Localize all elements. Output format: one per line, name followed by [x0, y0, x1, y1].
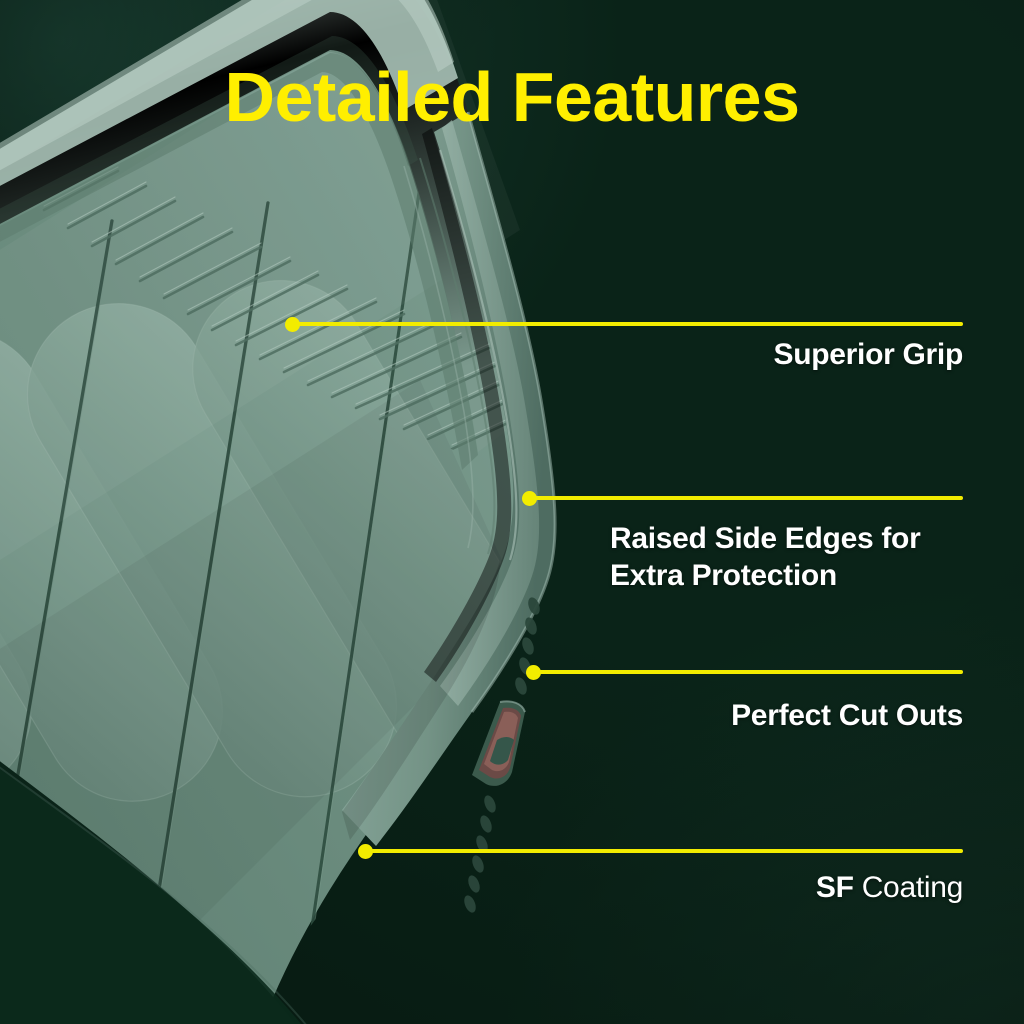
callout-dot-sf-coating: [358, 844, 373, 859]
callout-line-superior-grip: [292, 322, 963, 326]
infographic-canvas: Detailed Features Superior Grip Raised S…: [0, 0, 1024, 1024]
callout-label-perfect-cut-outs: Perfect Cut Outs: [463, 698, 963, 735]
callout-line-perfect-cut-outs: [533, 670, 963, 674]
callout-label-sf-coating: SF Coating: [463, 870, 963, 907]
callout-dot-raised-side-edges: [522, 491, 537, 506]
callout-dot-perfect-cut-outs: [526, 665, 541, 680]
callout-label-raised-side-edges: Raised Side Edges for Extra Protection: [610, 521, 920, 594]
callout-label-line-2: Extra Protection: [610, 558, 920, 595]
callout-label-sf-coating-regular: Coating: [854, 871, 963, 904]
callout-label-line-1: Raised Side Edges for: [610, 521, 920, 558]
callout-dot-superior-grip: [285, 317, 300, 332]
callout-line-sf-coating: [365, 849, 963, 853]
callout-label-sf-coating-bold: SF: [816, 871, 854, 904]
page-title: Detailed Features: [0, 62, 1024, 132]
callout-line-raised-side-edges: [529, 496, 963, 500]
callout-label-superior-grip: Superior Grip: [463, 337, 963, 374]
